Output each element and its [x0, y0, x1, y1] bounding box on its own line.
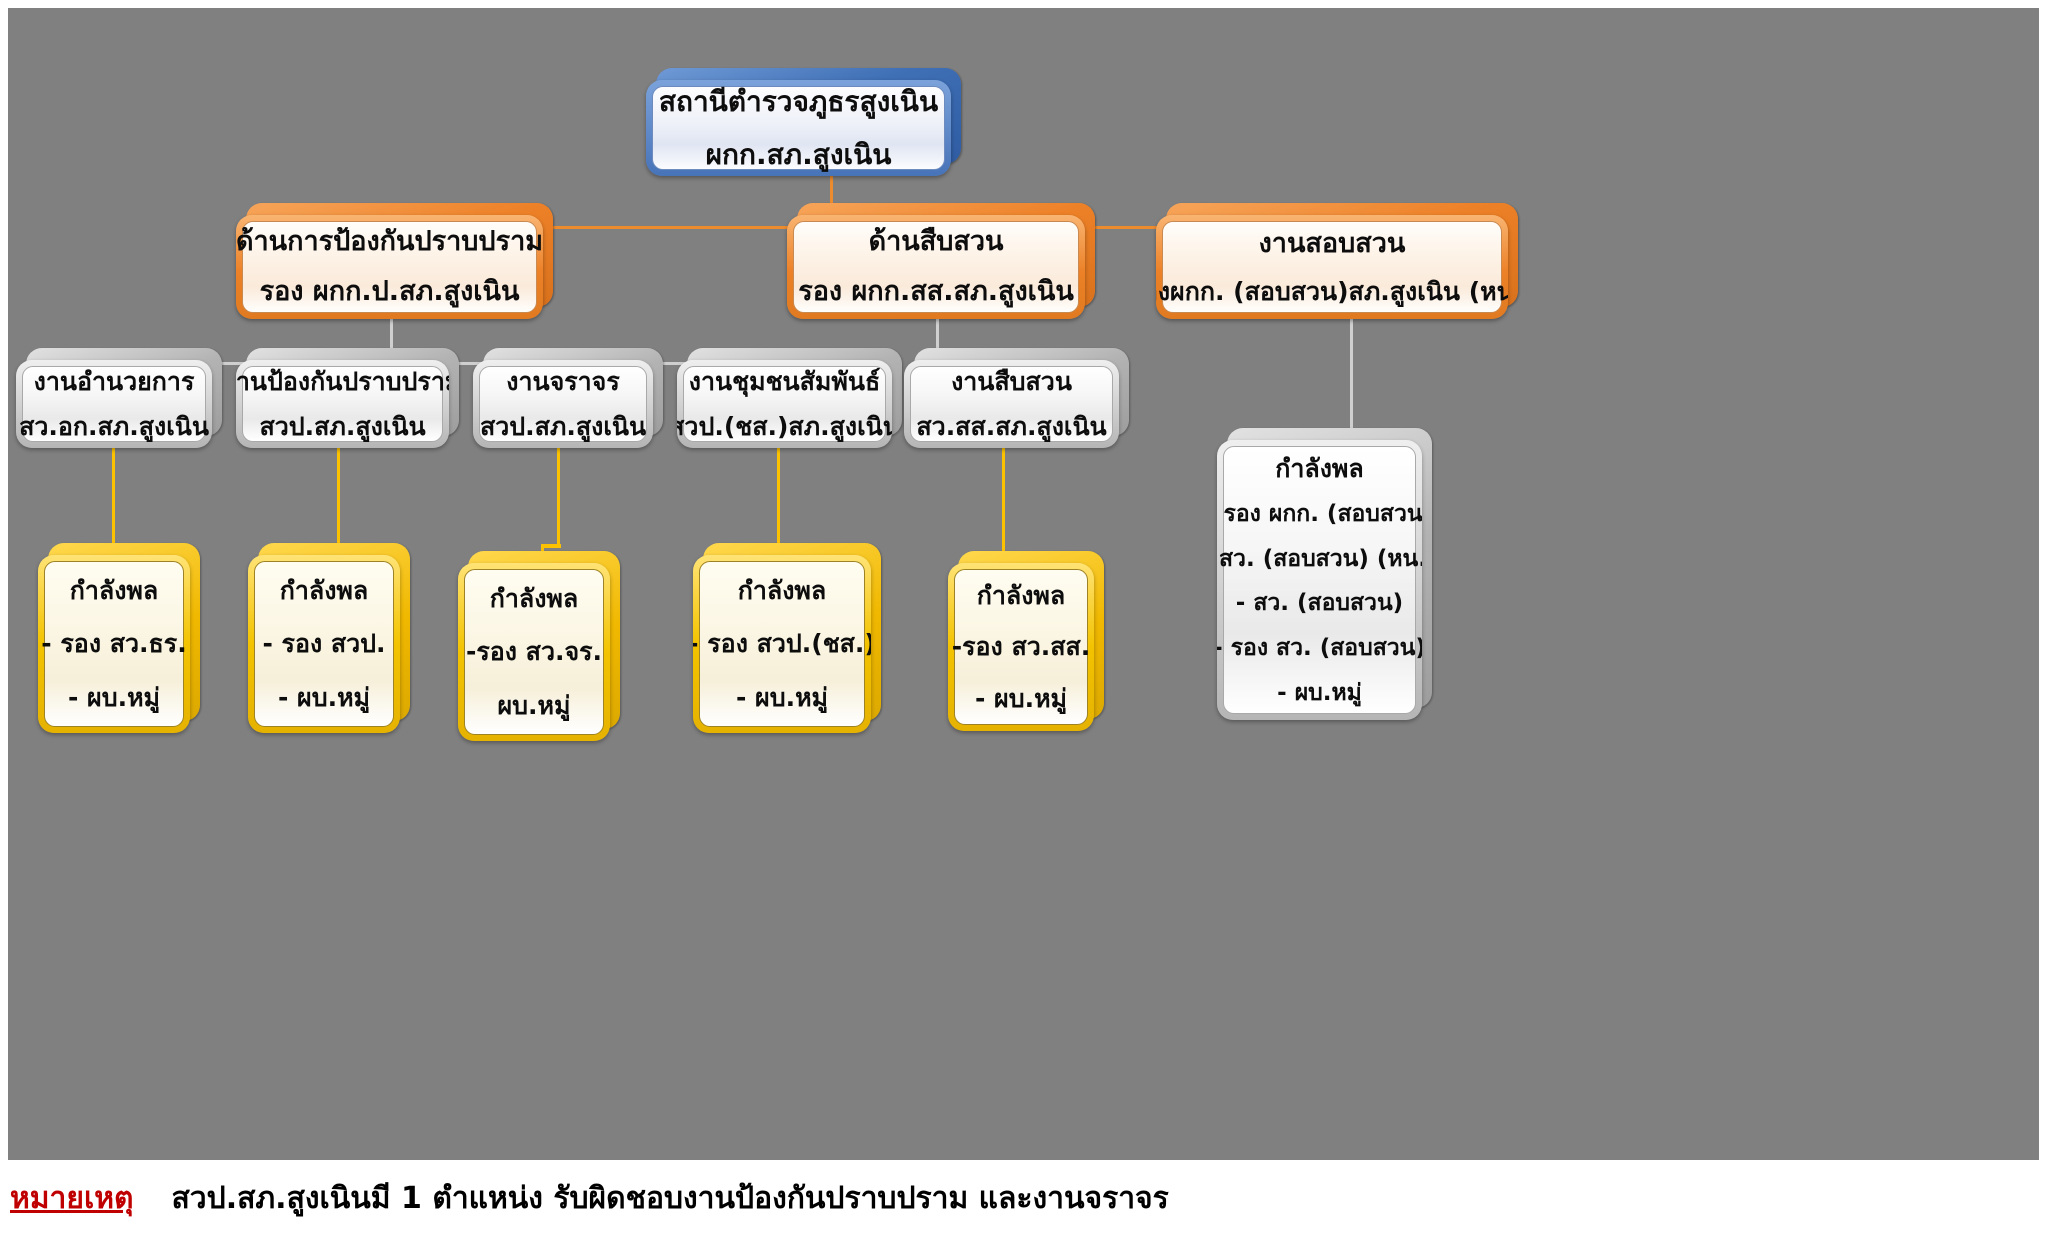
node-staff-prevention-face: กำลังพล - รอง สวป. - ผบ.หมู่ — [248, 555, 400, 733]
node-division-intelligence[interactable]: ด้านสืบสวน รอง ผกก.สส.สภ.สูงเนิน — [787, 215, 1085, 319]
node-staff-investigation-row-4: - รอง สว. (สอบสวน) — [1217, 634, 1422, 663]
node-staff-administration-title: กำลังพล — [70, 575, 159, 606]
node-staff-community-face: กำลังพล - รอง สวป.(ชส.) - ผบ.หมู่ — [693, 555, 871, 733]
node-root-face: สถานีตำรวจภูธรสูงเนิน ผกก.สภ.สูงเนิน — [646, 80, 951, 176]
node-section-prevention-face: งานป้องกันปราบปราม สวป.สภ.สูงเนิน — [236, 360, 449, 448]
connector-staff-3-jog — [541, 544, 561, 548]
node-section-traffic-face: งานจราจร สวป.สภ.สูงเนิน — [473, 360, 653, 448]
footnote: หมายเหตุ สวป.สภ.สูงเนินมี 1 ตำแหน่ง รับผ… — [0, 1168, 2047, 1228]
node-staff-prevention-inner: กำลังพล - รอง สวป. - ผบ.หมู่ — [254, 561, 394, 727]
node-section-traffic-inner: งานจราจร สวป.สภ.สูงเนิน — [479, 366, 647, 442]
node-section-intelligence-title: งานสืบสวน — [951, 366, 1072, 397]
node-staff-community-row-1: - รอง สวป.(ชส.) — [693, 628, 871, 659]
node-staff-traffic-title: กำลังพล — [490, 583, 579, 614]
node-staff-intelligence[interactable]: กำลังพล -รอง สว.สส. - ผบ.หมู่ — [948, 563, 1094, 731]
node-section-prevention[interactable]: งานป้องกันปราบปราม สวป.สภ.สูงเนิน — [236, 360, 449, 448]
node-staff-investigation[interactable]: กำลังพล - รอง ผกก. (สอบสวน) - สว. (สอบสว… — [1217, 440, 1422, 720]
node-staff-administration-row-1: - รอง สว.ธร. — [41, 628, 186, 659]
node-staff-community-inner: กำลังพล - รอง สวป.(ชส.) - ผบ.หมู่ — [699, 561, 865, 727]
node-staff-investigation-row-3: - สว. (สอบสวน) — [1236, 589, 1403, 618]
node-section-administration-face: งานอำนวยการ สว.อก.สภ.สูงเนิน — [16, 360, 212, 448]
node-staff-traffic-row-2: ผบ.หมู่ — [498, 690, 571, 721]
node-staff-prevention-row-2: - ผบ.หมู่ — [278, 682, 370, 713]
node-root-subtitle: ผกก.สภ.สูงเนิน — [706, 137, 892, 172]
node-staff-administration-face: กำลังพล - รอง สว.ธร. - ผบ.หมู่ — [38, 555, 190, 733]
node-section-administration-subtitle: สว.อก.สภ.สูงเนิน — [19, 411, 209, 442]
node-staff-investigation-face: กำลังพล - รอง ผกก. (สอบสวน) - สว. (สอบสว… — [1217, 440, 1422, 720]
node-staff-administration[interactable]: กำลังพล - รอง สว.ธร. - ผบ.หมู่ — [38, 555, 190, 733]
node-section-intelligence-subtitle: สว.สส.สภ.สูงเนิน — [916, 411, 1106, 442]
node-staff-community[interactable]: กำลังพล - รอง สวป.(ชส.) - ผบ.หมู่ — [693, 555, 871, 733]
node-division-prevention-subtitle: รอง ผกก.ป.สภ.สูงเนิน — [260, 275, 520, 309]
node-division-intelligence-inner: ด้านสืบสวน รอง ผกก.สส.สภ.สูงเนิน — [793, 221, 1079, 313]
node-staff-community-title: กำลังพล — [738, 575, 827, 606]
chart-canvas: สถานีตำรวจภูธรสูงเนิน ผกก.สภ.สูงเนิน ด้า… — [8, 8, 2039, 1160]
node-division-investigation[interactable]: งานสอบสวน รองผกก. (สอบสวน)สภ.สูงเนิน (หน… — [1156, 215, 1508, 319]
node-staff-intelligence-row-2: - ผบ.หมู่ — [975, 683, 1067, 714]
node-division-investigation-face: งานสอบสวน รองผกก. (สอบสวน)สภ.สูงเนิน (หน… — [1156, 215, 1508, 319]
node-section-community[interactable]: งานชุมชนสัมพันธ์ สวป.(ชส.)สภ.สูงเนิน — [677, 360, 892, 448]
node-section-community-subtitle: สวป.(ชส.)สภ.สูงเนิน — [677, 411, 892, 442]
node-division-investigation-title: งานสอบสวน — [1259, 227, 1406, 261]
node-root-inner: สถานีตำรวจภูธรสูงเนิน ผกก.สภ.สูงเนิน — [652, 86, 945, 170]
node-section-community-inner: งานชุมชนสัมพันธ์ สวป.(ชส.)สภ.สูงเนิน — [683, 366, 886, 442]
node-section-prevention-subtitle: สวป.สภ.สูงเนิน — [259, 411, 425, 442]
org-chart-page: สถานีตำรวจภูธรสูงเนิน ผกก.สภ.สูงเนิน ด้า… — [0, 0, 2047, 1250]
node-section-community-title: งานชุมชนสัมพันธ์ — [689, 366, 880, 397]
node-staff-prevention-title: กำลังพล — [280, 575, 369, 606]
node-section-administration-inner: งานอำนวยการ สว.อก.สภ.สูงเนิน — [22, 366, 206, 442]
footnote-label: หมายเหตุ — [10, 1175, 134, 1222]
node-staff-investigation-row-1: - รอง ผกก. (สอบสวน) — [1217, 500, 1422, 529]
node-staff-investigation-row-2: - สว. (สอบสวน) (หน.) — [1217, 545, 1422, 574]
node-staff-intelligence-face: กำลังพล -รอง สว.สส. - ผบ.หมู่ — [948, 563, 1094, 731]
node-section-community-face: งานชุมชนสัมพันธ์ สวป.(ชส.)สภ.สูงเนิน — [677, 360, 892, 448]
node-root[interactable]: สถานีตำรวจภูธรสูงเนิน ผกก.สภ.สูงเนิน — [646, 80, 951, 176]
node-division-prevention-title: ด้านการป้องกันปราบปราม — [236, 225, 543, 259]
node-section-intelligence[interactable]: งานสืบสวน สว.สส.สภ.สูงเนิน — [904, 360, 1119, 448]
node-staff-traffic-inner: กำลังพล -รอง สว.จร. ผบ.หมู่ — [464, 569, 604, 735]
node-staff-intelligence-title: กำลังพล — [977, 580, 1066, 611]
node-division-prevention-face: ด้านการป้องกันปราบปราม รอง ผกก.ป.สภ.สูงเ… — [236, 215, 543, 319]
node-staff-community-row-2: - ผบ.หมู่ — [736, 682, 828, 713]
node-staff-traffic-row-1: -รอง สว.จร. — [466, 636, 602, 667]
connector-staff-1-stem — [112, 448, 115, 558]
node-section-traffic-subtitle: สวป.สภ.สูงเนิน — [480, 411, 646, 442]
connector-staff-2-stem — [337, 448, 340, 548]
node-section-intelligence-inner: งานสืบสวน สว.สส.สภ.สูงเนิน — [910, 366, 1113, 442]
node-section-traffic-title: งานจราจร — [506, 366, 620, 397]
node-section-traffic[interactable]: งานจราจร สวป.สภ.สูงเนิน — [473, 360, 653, 448]
node-section-intelligence-face: งานสืบสวน สว.สส.สภ.สูงเนิน — [904, 360, 1119, 448]
node-staff-intelligence-row-1: -รอง สว.สส. — [952, 631, 1091, 662]
node-division-intelligence-title: ด้านสืบสวน — [869, 225, 1004, 259]
node-staff-traffic[interactable]: กำลังพล -รอง สว.จร. ผบ.หมู่ — [458, 563, 610, 741]
node-section-prevention-inner: งานป้องกันปราบปราม สวป.สภ.สูงเนิน — [242, 366, 443, 442]
node-staff-prevention[interactable]: กำลังพล - รอง สวป. - ผบ.หมู่ — [248, 555, 400, 733]
node-staff-investigation-row-5: - ผบ.หมู่ — [1277, 679, 1362, 708]
node-staff-traffic-face: กำลังพล -รอง สว.จร. ผบ.หมู่ — [458, 563, 610, 741]
node-staff-administration-inner: กำลังพล - รอง สว.ธร. - ผบ.หมู่ — [44, 561, 184, 727]
node-section-administration-title: งานอำนวยการ — [34, 366, 195, 397]
node-root-title: สถานีตำรวจภูธรสูงเนิน — [659, 84, 938, 119]
node-division-prevention-inner: ด้านการป้องกันปราบปราม รอง ผกก.ป.สภ.สูงเ… — [242, 221, 537, 313]
node-section-administration[interactable]: งานอำนวยการ สว.อก.สภ.สูงเนิน — [16, 360, 212, 448]
footnote-text: สวป.สภ.สูงเนินมี 1 ตำแหน่ง รับผิดชอบงานป… — [172, 1175, 1169, 1222]
node-division-prevention[interactable]: ด้านการป้องกันปราบปราม รอง ผกก.ป.สภ.สูงเ… — [236, 215, 543, 319]
connector-staff-3-stem — [557, 448, 560, 548]
node-staff-investigation-title: กำลังพล — [1275, 453, 1364, 484]
node-staff-administration-row-2: - ผบ.หมู่ — [68, 682, 160, 713]
node-staff-prevention-row-1: - รอง สวป. — [262, 628, 385, 659]
node-division-investigation-inner: งานสอบสวน รองผกก. (สอบสวน)สภ.สูงเนิน (หน… — [1162, 221, 1502, 313]
node-division-intelligence-face: ด้านสืบสวน รอง ผกก.สส.สภ.สูงเนิน — [787, 215, 1085, 319]
node-section-prevention-title: งานป้องกันปราบปราม — [236, 366, 449, 397]
node-division-intelligence-subtitle: รอง ผกก.สส.สภ.สูงเนิน — [798, 275, 1074, 309]
node-division-investigation-subtitle: รองผกก. (สอบสวน)สภ.สูงเนิน (หน.) — [1156, 276, 1508, 307]
node-staff-intelligence-inner: กำลังพล -รอง สว.สส. - ผบ.หมู่ — [954, 569, 1088, 725]
node-staff-investigation-inner: กำลังพล - รอง ผกก. (สอบสวน) - สว. (สอบสว… — [1223, 446, 1416, 714]
